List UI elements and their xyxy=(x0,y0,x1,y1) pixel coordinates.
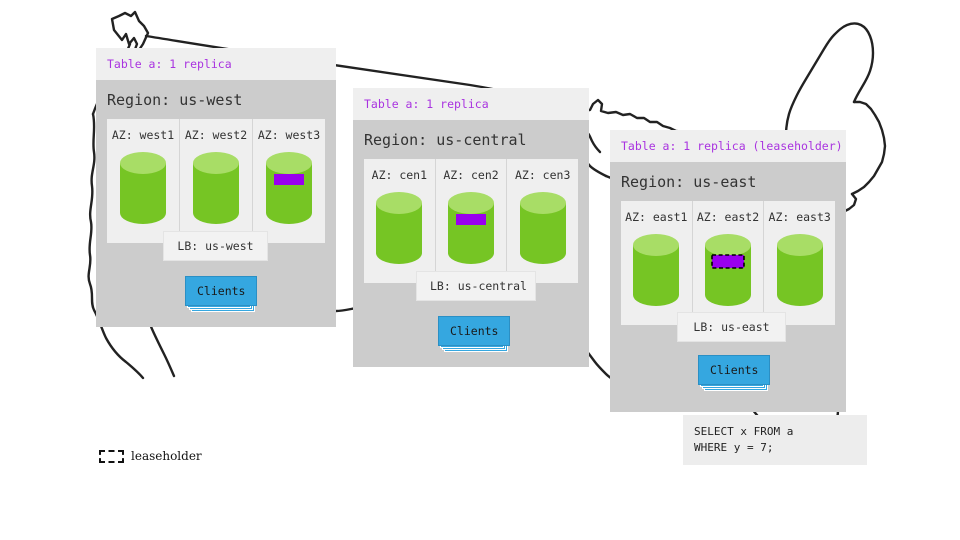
az-label: AZ: east2 xyxy=(693,210,764,224)
region-panel-us-east: Table a: 1 replica (leaseholder) Region:… xyxy=(610,130,846,415)
az-label: AZ: east1 xyxy=(621,210,692,224)
node-cylinder xyxy=(119,151,167,225)
az-row-us-east: AZ: east1 AZ: east2 xyxy=(621,201,835,325)
region-panel-us-central: Table a: 1 replica Region: us-central AZ… xyxy=(353,88,589,370)
clients-label: Clients xyxy=(185,276,257,306)
az-cell-west2[interactable]: AZ: west2 xyxy=(180,119,253,243)
diagram-canvas: 1 2 3 4 5 Table a: 1 replica Region: us-… xyxy=(0,0,960,540)
az-label: AZ: cen3 xyxy=(507,168,578,182)
az-cell-cen1[interactable]: AZ: cen1 xyxy=(364,159,436,283)
node-cylinder xyxy=(632,233,680,307)
az-cell-cen3[interactable]: AZ: cen3 xyxy=(507,159,578,283)
az-cell-east1[interactable]: AZ: east1 xyxy=(621,201,693,325)
replica-bar xyxy=(456,214,486,225)
node-cylinder xyxy=(447,191,495,265)
lb-box-us-central[interactable]: LB: us-central xyxy=(416,271,536,301)
az-label: AZ: cen1 xyxy=(364,168,435,182)
panel-header-us-east: Table a: 1 replica (leaseholder) xyxy=(610,130,846,162)
node-cylinder xyxy=(519,191,567,265)
az-label: AZ: east3 xyxy=(764,210,835,224)
replica-bar xyxy=(274,174,304,185)
az-label: AZ: west3 xyxy=(253,128,325,142)
clients-box-us-east[interactable]: Clients xyxy=(698,359,770,378)
sql-query-box: SELECT x FROM a WHERE y = 7; xyxy=(683,415,867,465)
region-title-us-central: Region: us-central xyxy=(353,120,589,159)
node-cylinder xyxy=(375,191,423,265)
az-row-us-central: AZ: cen1 AZ: cen2 xyxy=(364,159,578,283)
region-title-us-east: Region: us-east xyxy=(610,162,846,201)
az-label: AZ: cen2 xyxy=(436,168,507,182)
legend: leaseholder xyxy=(99,449,202,463)
clients-box-us-west[interactable]: Clients xyxy=(185,280,257,299)
panel-header-us-west: Table a: 1 replica xyxy=(96,48,336,80)
az-label: AZ: west1 xyxy=(107,128,179,142)
az-label: AZ: west2 xyxy=(180,128,252,142)
clients-box-us-central[interactable]: Clients xyxy=(438,320,510,339)
lb-box-us-east[interactable]: LB: us-east xyxy=(677,312,786,342)
legend-label: leaseholder xyxy=(131,449,202,463)
dashed-rect-icon xyxy=(99,450,124,463)
lb-box-us-west[interactable]: LB: us-west xyxy=(163,231,268,261)
node-cylinder xyxy=(265,151,313,225)
az-cell-east3[interactable]: AZ: east3 xyxy=(764,201,835,325)
replica-bar-leaseholder xyxy=(712,255,744,268)
az-row-us-west: AZ: west1 AZ: west2 xyxy=(107,119,325,243)
region-panel-us-west: Table a: 1 replica Region: us-west AZ: w… xyxy=(96,48,336,330)
az-cell-cen2[interactable]: AZ: cen2 xyxy=(436,159,508,283)
clients-label: Clients xyxy=(438,316,510,346)
node-cylinder xyxy=(192,151,240,225)
az-cell-west1[interactable]: AZ: west1 xyxy=(107,119,180,243)
az-cell-west3[interactable]: AZ: west3 xyxy=(253,119,325,243)
region-title-us-west: Region: us-west xyxy=(96,80,336,119)
node-cylinder xyxy=(704,233,752,307)
clients-label: Clients xyxy=(698,355,770,385)
az-cell-east2[interactable]: AZ: east2 xyxy=(693,201,765,325)
panel-header-us-central: Table a: 1 replica xyxy=(353,88,589,120)
node-cylinder xyxy=(776,233,824,307)
